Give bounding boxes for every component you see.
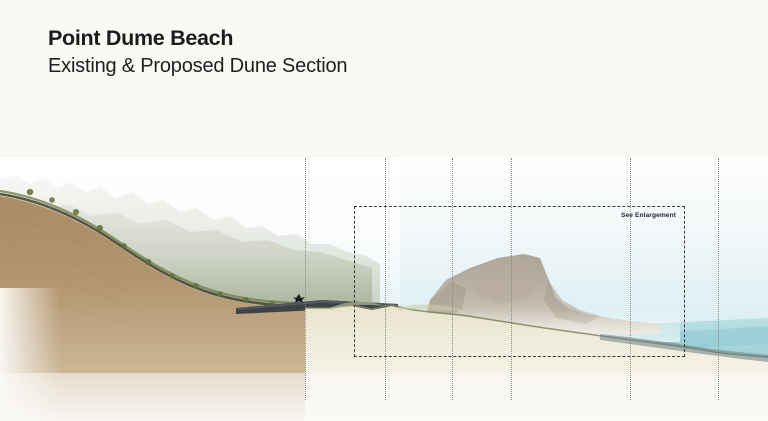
section-figure: See Enlargement Existing Bluffs Existing… — [0, 158, 768, 421]
zone-divider — [305, 158, 306, 400]
slide-root: Point Dume Beach Existing & Proposed Dun… — [0, 0, 768, 421]
page-subtitle: Existing & Proposed Dune Section — [48, 54, 347, 78]
page-title: Point Dume Beach — [48, 26, 233, 51]
see-enlargement-box[interactable]: See Enlargement — [354, 206, 685, 357]
zone-divider — [718, 158, 719, 400]
header: Point Dume Beach Existing & Proposed Dun… — [0, 0, 768, 150]
cross-section-illustration: See Enlargement — [0, 158, 768, 421]
see-enlargement-label: See Enlargement — [621, 212, 676, 219]
